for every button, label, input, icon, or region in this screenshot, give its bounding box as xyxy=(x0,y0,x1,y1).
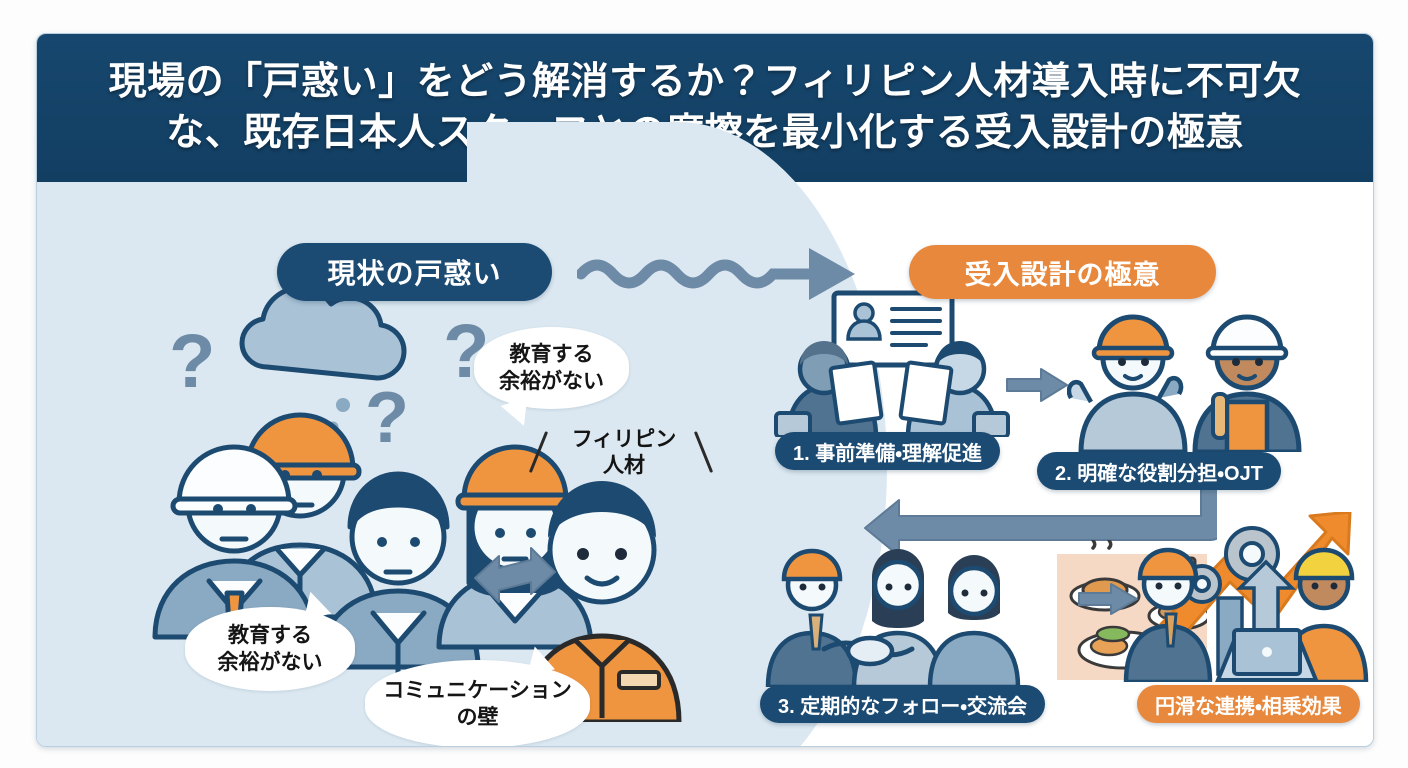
summary-caption: 互いの強みを活かし、持続可能な職場環境を構築 xyxy=(767,744,1367,747)
speech-bubble-text: 教育する 余裕がない xyxy=(218,622,323,677)
preparation-meeting-illustration xyxy=(772,287,1012,437)
step-label-2: 2. 明確な役割分担・OJT xyxy=(1037,452,1281,490)
role-assignment-workers-illustration xyxy=(1067,302,1307,452)
card-body: .ol{fill:none;stroke:#1d4a70;stroke-widt… xyxy=(37,182,1373,746)
screenshot-root: 現場の「戸惑い」をどう解消するか？フィリピン人材導入時に不可欠 な、既存日本人ス… xyxy=(0,0,1408,768)
speech-bubble-education-bottom: 教育する 余裕がない xyxy=(185,607,355,691)
question-mark-icon: ? xyxy=(365,378,409,458)
filipino-talent-label: フィリピン 人材 xyxy=(549,427,699,480)
synergy-growth-illustration xyxy=(1122,512,1372,682)
step-label-4: 円滑な連携・相乗効果 xyxy=(1137,685,1360,723)
wavy-transition-arrow-icon xyxy=(577,244,887,304)
step-label-3: 3. 定期的なフォロー・交流会 xyxy=(760,685,1045,723)
question-mark-icon: ? xyxy=(169,319,215,404)
infographic-card: 現場の「戸惑い」をどう解消するか？フィリピン人材導入時に不可欠 な、既存日本人ス… xyxy=(36,33,1374,747)
arrow-right-icon xyxy=(1005,367,1071,403)
speech-bubble-communication-wall: コミュニケーション の壁 xyxy=(365,660,590,747)
step-label-1: 1. 事前準備・理解促進 xyxy=(775,432,1000,470)
status-badge-solution: 受入設計の極意 xyxy=(909,245,1216,299)
bubble-tail xyxy=(523,644,555,674)
two-way-arrow-icon xyxy=(469,542,559,612)
speech-bubble-education-top: 教育する 余裕がない xyxy=(474,327,629,409)
speech-bubble-text: 教育する 余裕がない xyxy=(499,341,604,396)
status-badge-current: 現状の戸惑い xyxy=(277,243,552,301)
follow-up-networking-illustration xyxy=(762,537,1062,687)
speech-bubble-text: コミュニケーション の壁 xyxy=(383,677,572,732)
